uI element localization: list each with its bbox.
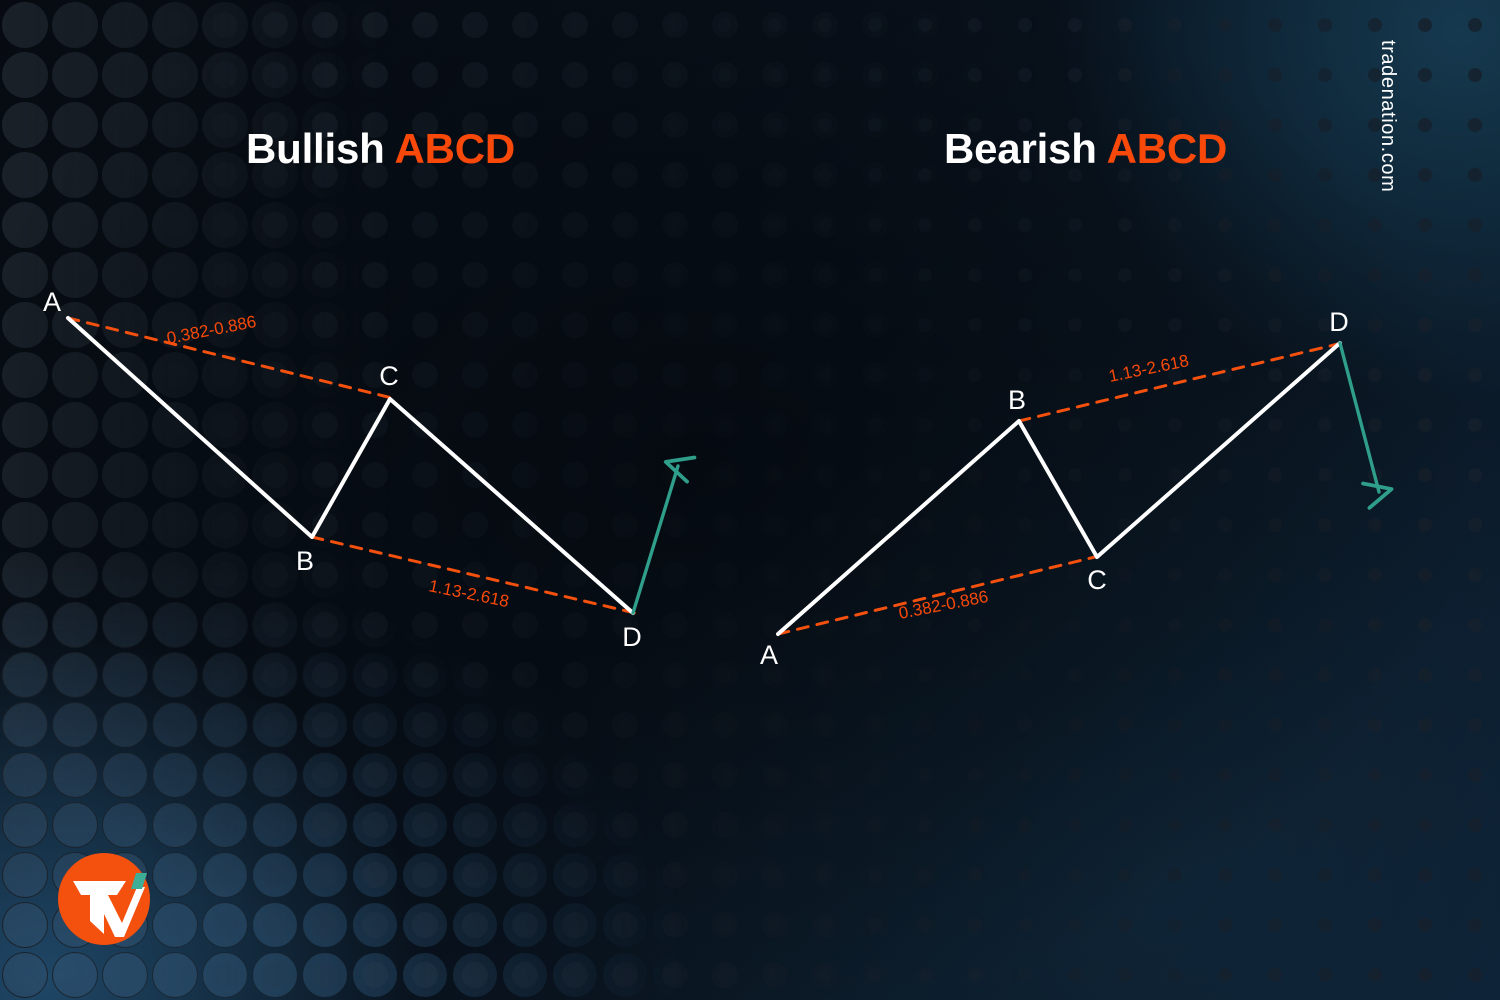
- watermark-text: tradenation.com: [1376, 40, 1399, 192]
- bearish-projection-arrow: [1340, 343, 1379, 492]
- bearish-point-label-c: C: [1087, 565, 1107, 595]
- bearish-leg-path: [778, 343, 1340, 634]
- bullish-pattern-group: A B C D 0.382-0.886 1.13-2.618: [43, 287, 678, 652]
- bearish-point-label-d: D: [1329, 307, 1349, 337]
- bullish-ratio-label-ac: 0.382-0.886: [165, 312, 258, 348]
- diagram-canvas: A B C D 0.382-0.886 1.13-2.618 A B C D 1…: [0, 0, 1500, 1000]
- tradenation-logo[interactable]: [52, 847, 156, 951]
- bearish-title-accent: ABCD: [1107, 125, 1228, 172]
- bearish-pattern-group: A B C D 1.13-2.618 0.382-0.886: [760, 307, 1379, 670]
- bullish-point-label-a: A: [43, 287, 61, 317]
- bullish-title-accent: ABCD: [395, 125, 516, 172]
- bearish-point-label-a: A: [760, 640, 778, 670]
- bullish-pattern-legs: [68, 318, 633, 613]
- bearish-ratio-line-ac: [778, 556, 1099, 634]
- bullish-projection-arrow: [633, 466, 678, 613]
- bullish-point-label-c: C: [379, 361, 399, 391]
- bullish-point-label-d: D: [622, 622, 642, 652]
- bearish-ratio-label-bd: 1.13-2.618: [1107, 351, 1190, 386]
- bearish-title: Bearish ABCD: [944, 125, 1227, 173]
- bearish-pattern-legs: [778, 343, 1340, 634]
- bearish-title-prefix: Bearish: [944, 125, 1107, 172]
- bullish-title: Bullish ABCD: [246, 125, 515, 173]
- bullish-leg-path: [68, 318, 633, 613]
- bearish-point-label-b: B: [1008, 385, 1026, 415]
- bullish-title-prefix: Bullish: [246, 125, 395, 172]
- bullish-point-label-b: B: [296, 546, 314, 576]
- abcd-pattern-diagram: A B C D 0.382-0.886 1.13-2.618 A B C D 1…: [0, 0, 1500, 1000]
